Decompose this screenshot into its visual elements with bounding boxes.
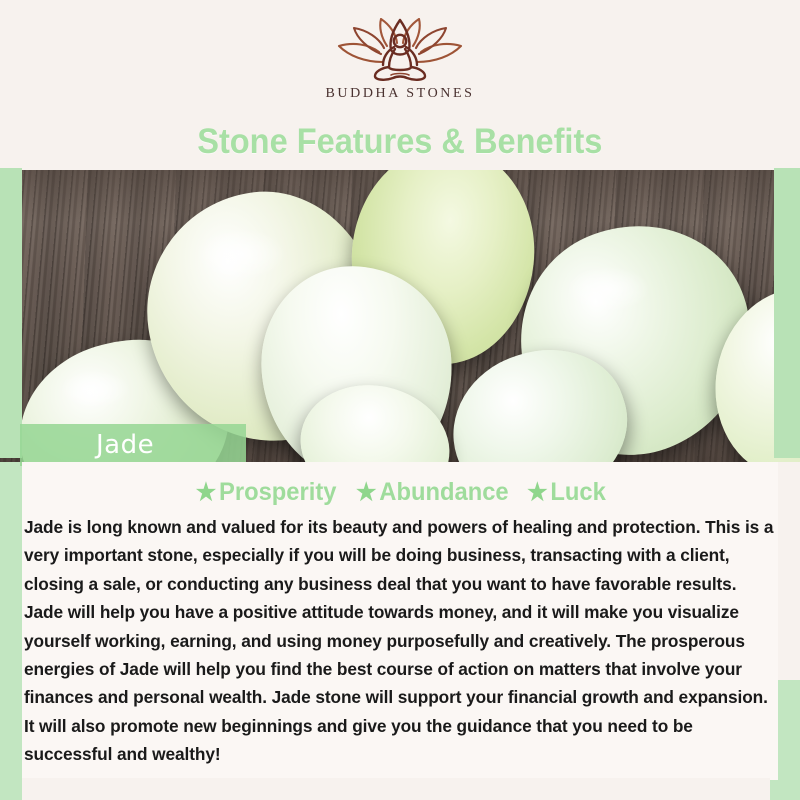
lotus-meditation-icon (325, 18, 475, 82)
benefits-row: ★Prosperity ★Abundance ★Luck (22, 462, 778, 507)
stone-name-label: Jade (96, 430, 154, 460)
stone-info-poster: BUDDHA STONES Stone Features & Benefits … (0, 0, 800, 800)
footer-strip (22, 778, 770, 800)
brand-wordmark: BUDDHA STONES (290, 86, 510, 102)
photo-left-accent-strip (0, 168, 22, 458)
jade-tumbled-stones-photo (0, 170, 800, 462)
star-icon: ★ (527, 479, 547, 506)
stone-name-banner: Jade (20, 424, 246, 466)
benefit-item-prosperity: ★Prosperity (195, 478, 336, 507)
stone-description-text: Jade is long known and valued for its be… (22, 513, 778, 769)
page-title: Stone Features & Benefits (197, 122, 602, 162)
benefit-item-abundance: ★Abundance (356, 478, 509, 507)
benefit-label: Luck (551, 478, 606, 506)
poster-header: BUDDHA STONES Stone Features & Benefits (0, 0, 800, 172)
photo-right-accent-strip (774, 168, 800, 458)
benefit-label: Abundance (380, 478, 509, 506)
stone-description-panel: ★Prosperity ★Abundance ★Luck Jade is lon… (22, 462, 778, 780)
star-icon: ★ (195, 479, 215, 506)
benefit-label: Prosperity (219, 478, 336, 506)
brand-logo: BUDDHA STONES (290, 18, 510, 102)
star-icon: ★ (356, 479, 376, 506)
page-title-band: Stone Features & Benefits (0, 122, 800, 162)
bottom-left-accent-band (0, 660, 22, 800)
benefit-item-luck: ★Luck (527, 478, 606, 507)
